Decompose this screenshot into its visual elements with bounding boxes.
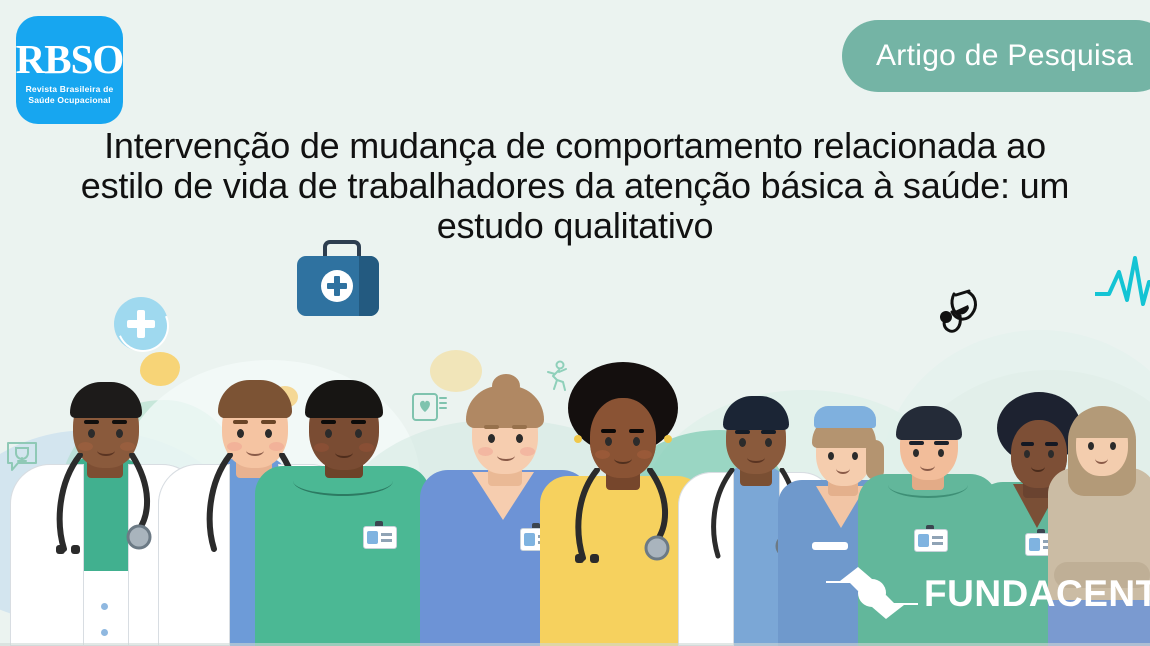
- slide-canvas: RBSO Revista Brasileira de Saúde Ocupaci…: [0, 0, 1150, 646]
- eye-left: [488, 434, 495, 443]
- person-worker-green-1: [255, 330, 430, 646]
- eye-left: [325, 429, 332, 438]
- hair-top: [1070, 408, 1134, 438]
- cheek-left: [478, 447, 493, 456]
- eye-right: [633, 437, 640, 446]
- eyebrow-right: [512, 425, 527, 429]
- id-badge: [363, 526, 397, 549]
- article-type-label: Artigo de Pesquisa: [876, 39, 1133, 73]
- hair: [305, 380, 383, 418]
- mouth: [1031, 461, 1045, 472]
- cheek-left: [78, 442, 93, 451]
- hair: [896, 406, 962, 440]
- eyebrow-left: [233, 420, 248, 424]
- eye-right: [938, 449, 944, 457]
- mouth: [1095, 453, 1108, 464]
- cheek-left: [227, 442, 242, 451]
- eye-right: [516, 434, 523, 443]
- cheek-right: [359, 443, 374, 452]
- rbso-subtitle: Revista Brasileira de Saúde Ocupacional: [26, 84, 114, 105]
- face: [590, 398, 656, 478]
- eyebrow-left: [84, 420, 99, 424]
- mouth: [497, 450, 515, 461]
- eyebrow-right: [629, 429, 644, 433]
- eye-right: [765, 438, 772, 447]
- cheek-right: [120, 442, 135, 451]
- eye-left: [1088, 442, 1094, 450]
- mouth: [614, 453, 632, 464]
- eyebrow-right: [761, 430, 776, 434]
- eye-left: [88, 429, 95, 438]
- page-title: Intervenção de mudança de comportamento …: [75, 126, 1075, 246]
- eyebrow-left: [735, 430, 750, 434]
- rbso-acronym: RBSO: [16, 39, 124, 80]
- stethoscope: [562, 468, 687, 568]
- mouth: [747, 452, 765, 463]
- mouth: [335, 447, 353, 458]
- fundacentro-wordmark: FUNDACENTRO: [924, 575, 1150, 612]
- eye-left: [237, 429, 244, 438]
- eye-left: [739, 438, 746, 447]
- eyebrow-right: [934, 441, 949, 445]
- cheek-left: [314, 443, 329, 452]
- rbso-logo[interactable]: RBSO Revista Brasileira de Saúde Ocupaci…: [16, 16, 123, 124]
- heart-monitor-icon: [411, 390, 449, 424]
- rbso-subtitle-line-2: Saúde Ocupacional: [26, 95, 114, 105]
- eyebrow-right: [112, 420, 127, 424]
- eyebrow-left: [321, 420, 336, 424]
- fundacentro-mark-icon: [824, 561, 920, 625]
- eye-left: [913, 449, 919, 457]
- eyebrow-left: [909, 441, 924, 445]
- stethoscope: [40, 453, 170, 558]
- speech-bubble-trophy-icon: [5, 440, 39, 474]
- stethoscope-icon: [938, 286, 988, 342]
- earring-left: [574, 435, 582, 443]
- name-tag: [812, 542, 848, 550]
- eyebrow-left: [484, 425, 499, 429]
- first-aid-kit-icon: [297, 248, 379, 316]
- eye-right: [355, 429, 362, 438]
- eye-left: [1024, 450, 1030, 458]
- eye-left: [828, 452, 834, 460]
- cheek-right: [520, 447, 535, 456]
- medical-cross-circle-icon: [114, 297, 168, 351]
- eye-right: [1110, 442, 1116, 450]
- eyebrow-right: [351, 420, 366, 424]
- article-type-badge[interactable]: Artigo de Pesquisa: [842, 20, 1150, 92]
- hair-bun: [492, 374, 520, 398]
- eyebrow-left: [1021, 442, 1034, 446]
- cheek-left: [595, 450, 610, 459]
- hair: [70, 382, 142, 418]
- fundacentro-logo[interactable]: FUNDACENTRO: [824, 561, 1134, 625]
- eyebrow-left: [601, 429, 616, 433]
- rbso-subtitle-line-1: Revista Brasileira de: [26, 84, 114, 94]
- cheek-right: [637, 450, 652, 459]
- coat-buttons: [101, 603, 108, 610]
- mouth: [920, 460, 935, 471]
- id-badge: [914, 529, 948, 552]
- running-person-icon: [543, 360, 571, 394]
- earring-right: [664, 435, 672, 443]
- mouth: [836, 463, 850, 474]
- ekg-heartbeat-line: [1095, 252, 1150, 312]
- eye-left: [605, 437, 612, 446]
- eye-right: [116, 429, 123, 438]
